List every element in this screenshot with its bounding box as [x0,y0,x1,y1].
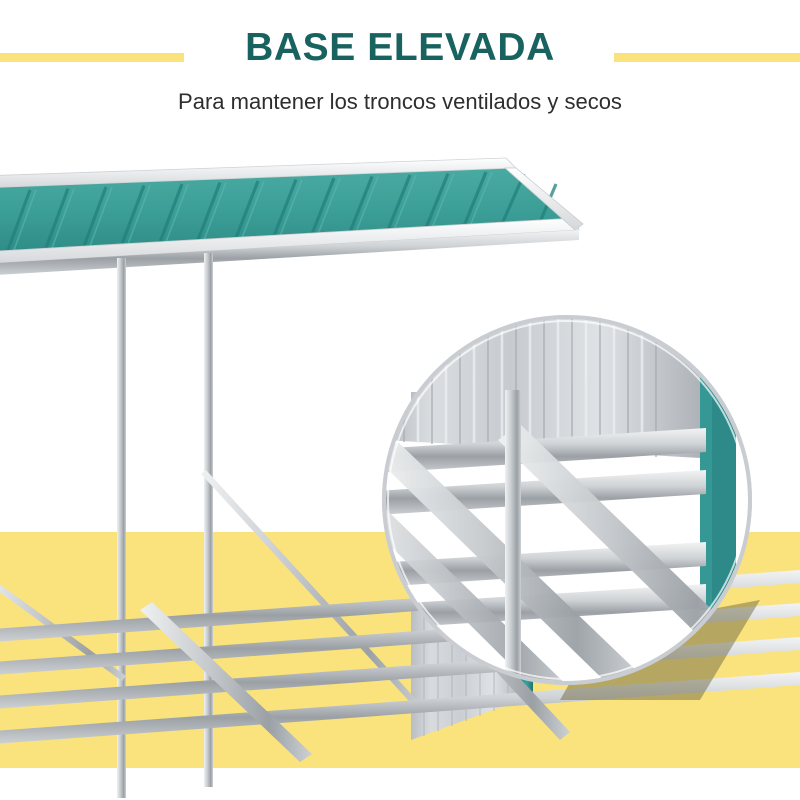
support-post [117,258,126,798]
header: BASE ELEVADA Para mantener los troncos v… [0,0,800,140]
zoom-back-wall-panel [384,270,700,458]
page-subtitle: Para mantener los troncos ventilados y s… [0,88,800,116]
log-store-shed-illustration [0,140,800,800]
zoom-support-post [505,390,521,690]
product-feature-card: BASE ELEVADA Para mantener los troncos v… [0,0,800,800]
support-post [204,253,213,787]
page-title: BASE ELEVADA [0,26,800,70]
